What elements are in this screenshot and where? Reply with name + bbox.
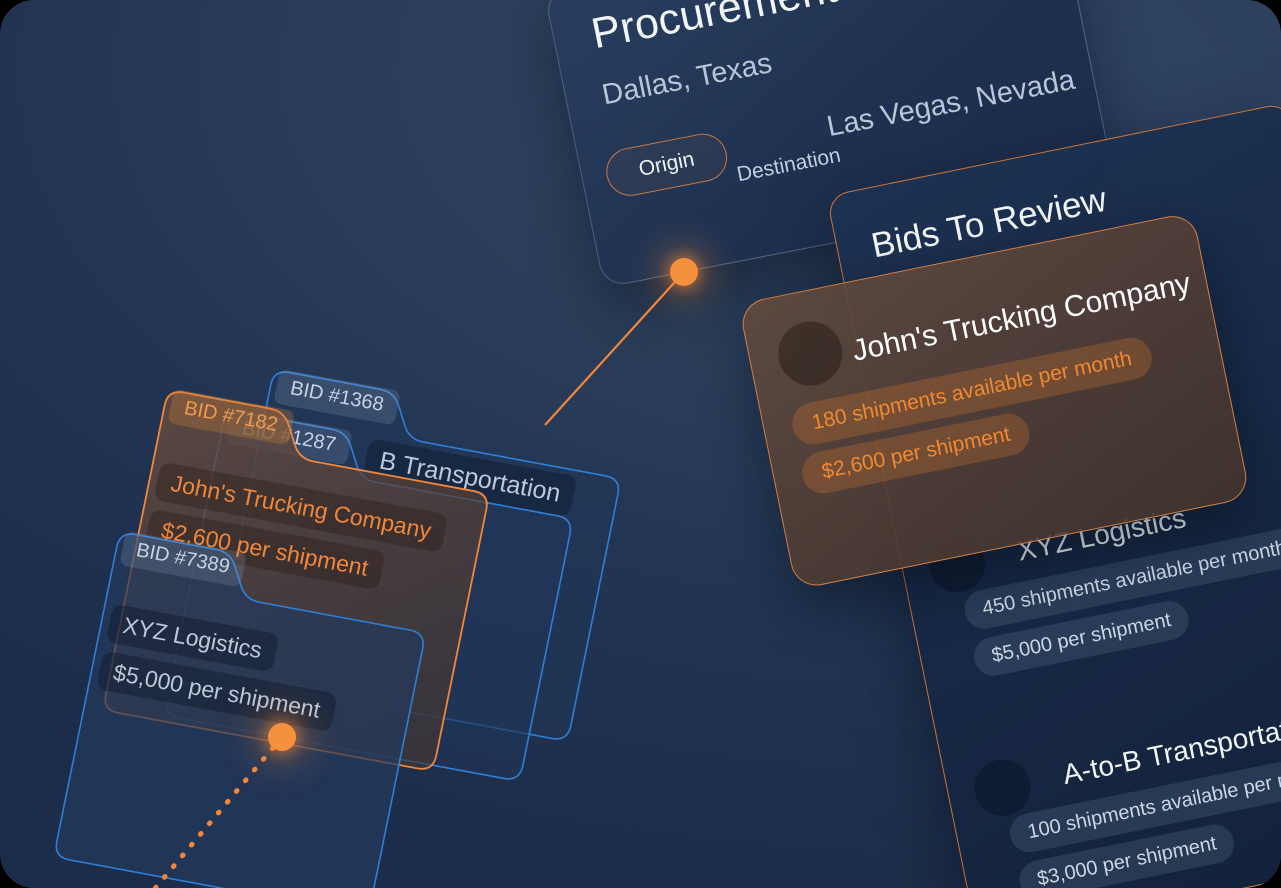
origin-pill[interactable]: Origin	[602, 130, 731, 200]
page-title: Procurement Event	[587, 0, 961, 59]
avatar	[773, 316, 848, 391]
bid-folder-card[interactable]: BID #7389 XYZ Logistics $5,000 per shipm…	[42, 520, 446, 888]
origin-map-pin[interactable]	[670, 258, 698, 286]
perspective-scene: BID #1368 B Transportation BID #1287	[0, 0, 1281, 888]
destination-label[interactable]: Destination	[735, 144, 843, 188]
origin-city: Dallas, Texas	[599, 47, 774, 112]
list-item[interactable]: A-to-B Transportation 100 shipments avai…	[960, 676, 1281, 762]
bid-map-pin[interactable]	[268, 723, 296, 751]
destination-city: Las Vegas, Nevada	[824, 64, 1077, 144]
procurement-visual-scene: BID #1368 B Transportation BID #1287	[0, 0, 1281, 888]
avatar	[969, 755, 1035, 821]
